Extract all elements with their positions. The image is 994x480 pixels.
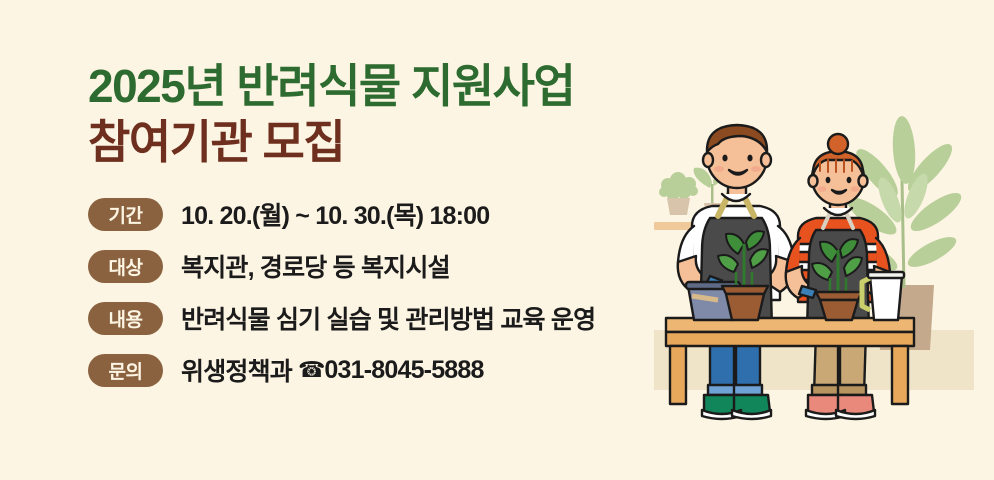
badge-period: 기간 [88,198,163,231]
badge-target: 대상 [88,250,163,283]
title-line-1: 2025년 반려식물 지원사업 [88,58,708,114]
info-value-department: 위생정책과 [181,352,292,388]
info-value-target: 복지관, 경로당 등 복지시설 [181,248,450,284]
title-line-2: 참여기관 모집 [88,114,708,170]
telephone-icon: ☎ [298,357,324,383]
info-row-target: 대상 복지관, 경로당 등 복지시설 [88,244,708,288]
promo-banner: 2025년 반려식물 지원사업 참여기관 모집 기간 10. 20.(월) ~ … [0,0,994,480]
info-row-period: 기간 10. 20.(월) ~ 10. 30.(목) 18:00 [88,192,708,236]
info-list: 기간 10. 20.(월) ~ 10. 30.(목) 18:00 대상 복지관,… [88,192,708,392]
info-value-content: 반려식물 심기 실습 및 관리방법 교육 운영 [181,300,595,336]
info-row-content: 내용 반려식물 심기 실습 및 관리방법 교육 운영 [88,296,708,340]
table-leg-right [892,346,908,404]
info-value-phone: 031-8045-5888 [324,356,483,385]
info-row-contact: 문의 위생정책과 ☎ 031-8045-5888 [88,348,708,392]
banner-text-column: 2025년 반려식물 지원사업 참여기관 모집 기간 10. 20.(월) ~ … [88,58,708,400]
badge-content: 내용 [88,302,163,335]
hair-bun [828,134,848,154]
page-title: 2025년 반려식물 지원사업 참여기관 모집 [88,58,708,170]
badge-contact: 문의 [88,354,163,387]
info-value-period: 10. 20.(월) ~ 10. 30.(목) 18:00 [181,196,489,232]
